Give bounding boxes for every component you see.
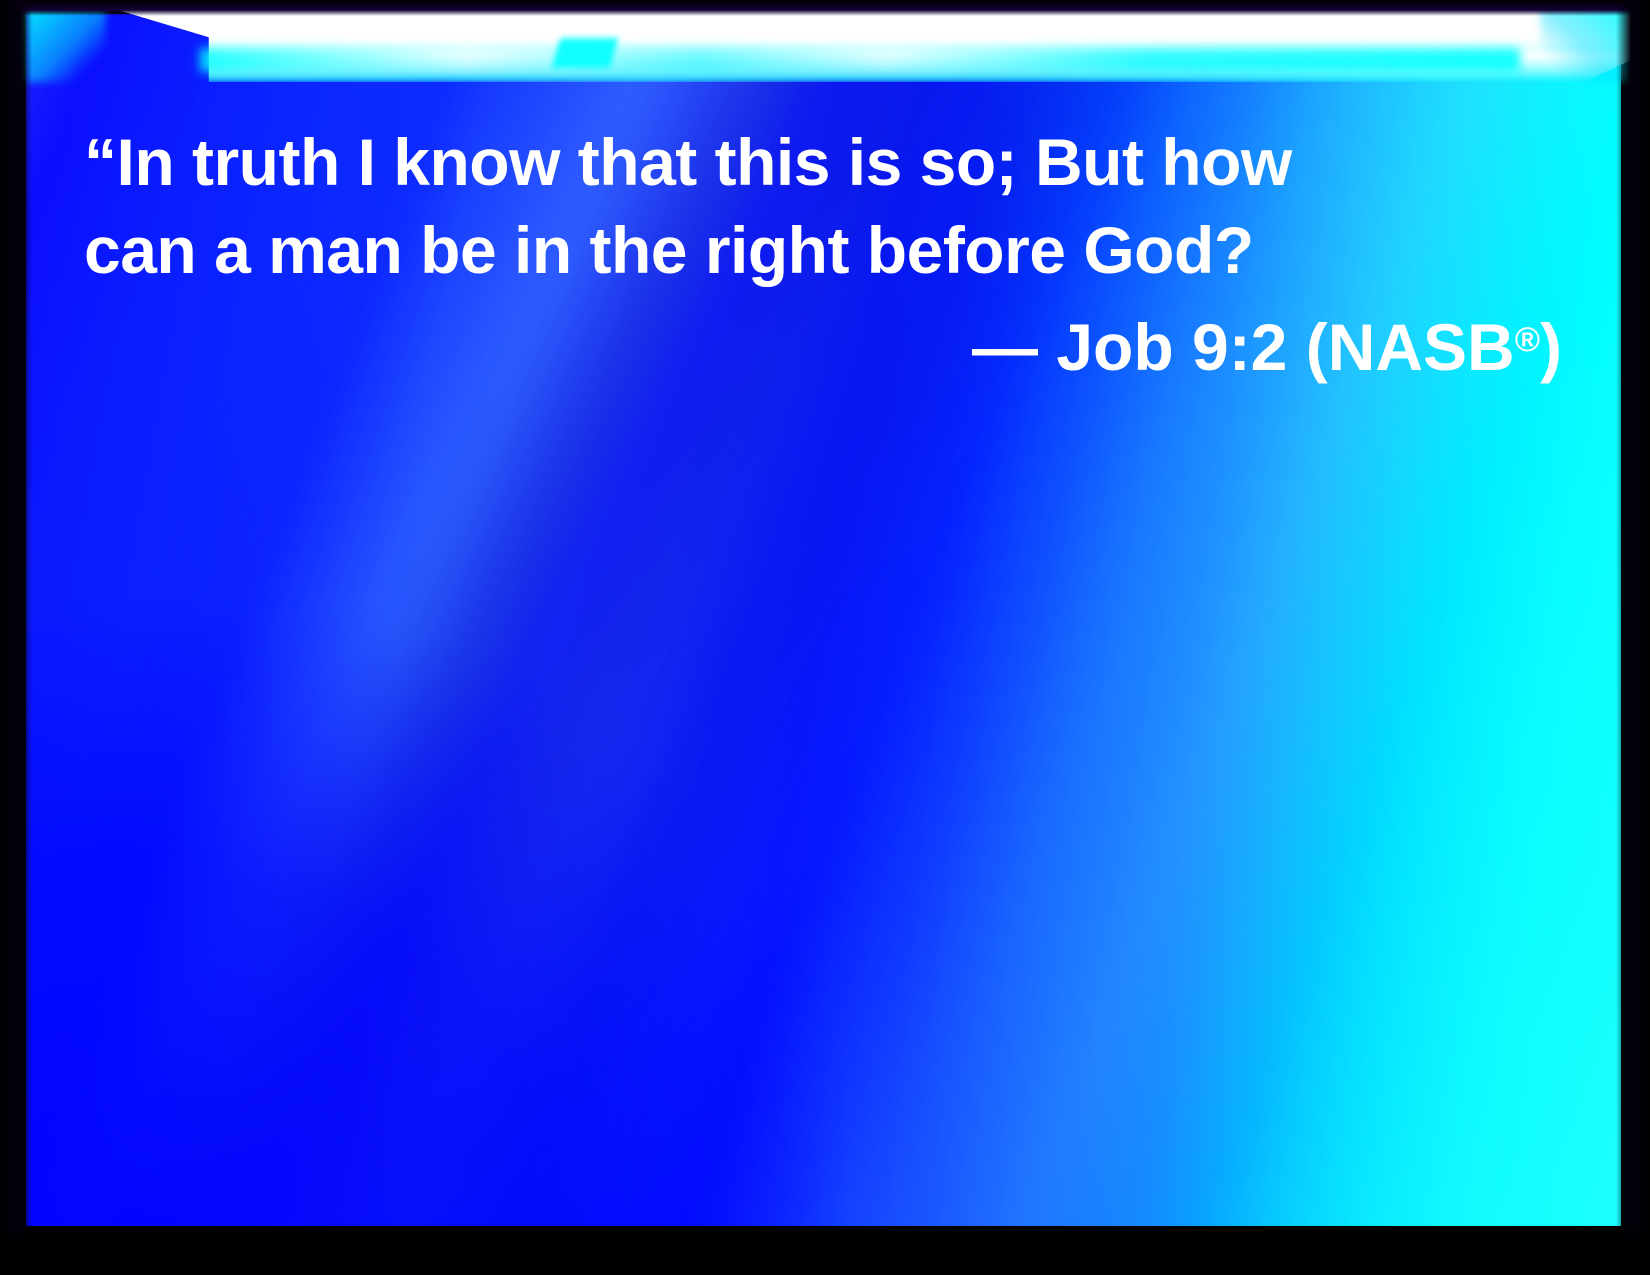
frame-right-edge [1616,0,1650,1275]
frame-bottom-edge [0,1225,1650,1275]
registered-trademark-icon: ® [1515,321,1540,359]
verse-line-2: can a man be in the right before God? [84,206,1562,294]
top-right-cyan-wedge [1540,4,1630,82]
top-left-cyan-wedge [26,4,106,82]
verse-line-1: “In truth I know that this is so; But ho… [84,118,1562,206]
background-blue-pocket [26,620,824,1226]
top-glow-banner [0,0,1650,96]
verse-slide: “In truth I know that this is so; But ho… [0,0,1650,1275]
verse-reference-prefix: — Job 9:2 (NASB [972,310,1515,384]
verse-reference-suffix: ) [1540,310,1562,384]
top-cyan-notch [552,38,619,68]
top-cyan-streak [200,48,1520,72]
verse-reference: — Job 9:2 (NASB®) [84,294,1562,393]
verse-text-block: “In truth I know that this is so; But ho… [84,118,1562,393]
